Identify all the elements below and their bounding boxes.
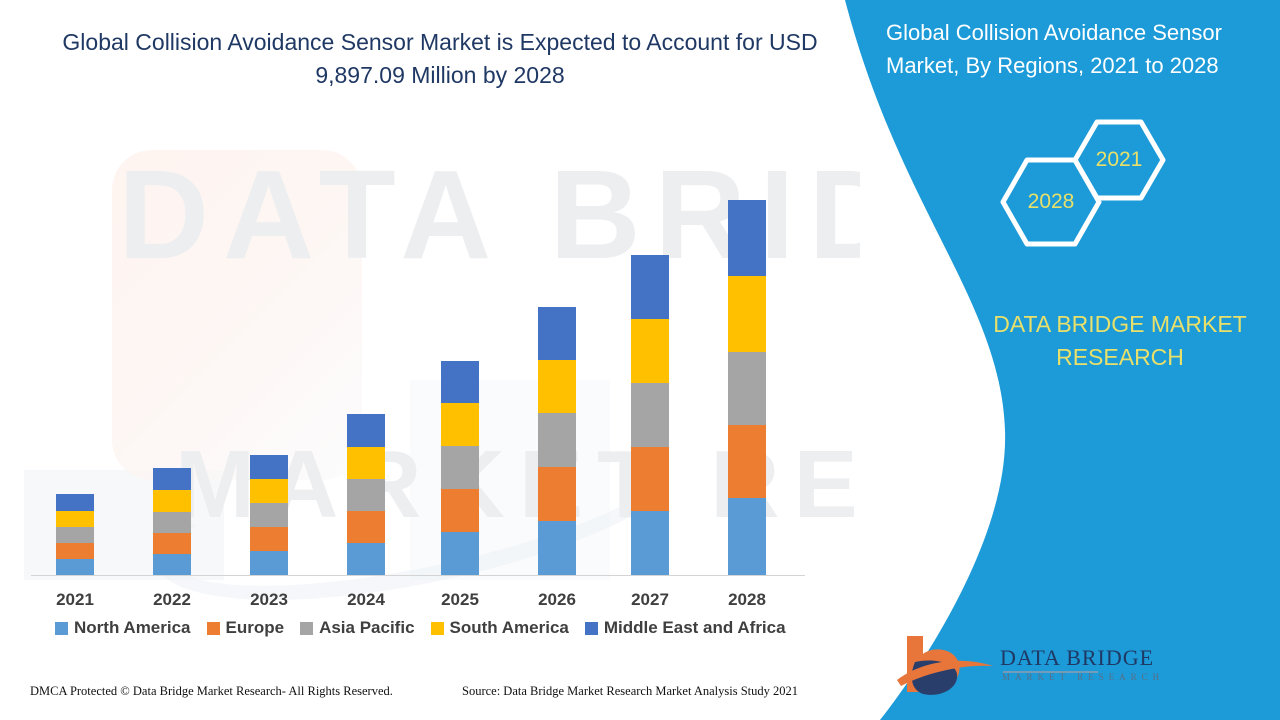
segment-middle-east-and-africa	[56, 494, 94, 511]
segment-europe	[631, 447, 669, 511]
x-label-2021: 2021	[35, 590, 115, 610]
segment-south-america	[347, 447, 385, 479]
x-label-2026: 2026	[517, 590, 597, 610]
x-label-2025: 2025	[420, 590, 500, 610]
segment-north-america	[441, 532, 479, 575]
logo-tagline: MARKET RESEARCH	[1002, 672, 1164, 682]
segment-middle-east-and-africa	[441, 361, 479, 403]
legend-swatch-south-america	[431, 622, 444, 635]
legend-item-north-america[interactable]: North America	[55, 618, 191, 638]
legend-label-south-america: South America	[450, 618, 569, 638]
legend-swatch-north-america	[55, 622, 68, 635]
segment-south-america	[153, 490, 191, 512]
infographic-canvas: DATA BRIDGE MARKET RESEARCH Global Colli…	[0, 0, 1280, 720]
segment-middle-east-and-africa	[347, 414, 385, 447]
hexagon-badges: 2028 2021	[975, 112, 1185, 292]
segment-north-america	[153, 554, 191, 575]
stacked-bar-chart: 2021 2022 2023 2024 2025 2026 2027 2028 …	[0, 0, 860, 720]
segment-asia-pacific	[153, 512, 191, 533]
segment-middle-east-and-africa	[538, 307, 576, 360]
segment-south-america	[538, 360, 576, 413]
segment-asia-pacific	[728, 352, 766, 425]
segment-europe	[728, 425, 766, 498]
hexagon-label-2028: 2028	[1021, 190, 1081, 214]
x-label-2023: 2023	[229, 590, 309, 610]
segment-europe	[538, 467, 576, 521]
bar-2024[interactable]	[347, 414, 385, 575]
segment-south-america	[728, 276, 766, 352]
legend-swatch-europe	[207, 622, 220, 635]
bar-2021[interactable]	[56, 494, 94, 575]
x-label-2024: 2024	[326, 590, 406, 610]
segment-north-america	[538, 521, 576, 575]
bar-2027[interactable]	[631, 255, 669, 575]
segment-asia-pacific	[250, 503, 288, 527]
segment-asia-pacific	[347, 479, 385, 511]
segment-europe	[250, 527, 288, 551]
segment-europe	[441, 489, 479, 532]
bar-2026[interactable]	[538, 307, 576, 575]
legend-item-asia-pacific[interactable]: Asia Pacific	[300, 618, 414, 638]
bar-2022[interactable]	[153, 468, 191, 575]
legend-swatch-asia-pacific	[300, 622, 313, 635]
hexagon-label-2021: 2021	[1089, 148, 1149, 172]
x-label-2022: 2022	[132, 590, 212, 610]
segment-europe	[153, 533, 191, 554]
segment-asia-pacific	[441, 446, 479, 489]
bar-2025[interactable]	[441, 361, 479, 575]
segment-south-america	[250, 479, 288, 503]
logo-wordmark: DATA BRIDGE	[1000, 645, 1154, 671]
segment-north-america	[347, 543, 385, 575]
legend-label-north-america: North America	[74, 618, 191, 638]
segment-europe	[56, 543, 94, 559]
segment-middle-east-and-africa	[728, 200, 766, 276]
segment-south-america	[56, 511, 94, 527]
x-label-2028: 2028	[707, 590, 787, 610]
segment-south-america	[631, 319, 669, 383]
segment-middle-east-and-africa	[631, 255, 669, 319]
segment-middle-east-and-africa	[250, 455, 288, 479]
bar-2023[interactable]	[250, 455, 288, 575]
segment-asia-pacific	[631, 383, 669, 447]
segment-north-america	[56, 559, 94, 575]
segment-asia-pacific	[56, 527, 94, 543]
bar-2028[interactable]	[728, 200, 766, 575]
legend-item-south-america[interactable]: South America	[431, 618, 569, 638]
segment-north-america	[250, 551, 288, 575]
x-label-2027: 2027	[610, 590, 690, 610]
x-axis-line	[31, 575, 805, 576]
legend-item-middle-east-and-africa[interactable]: Middle East and Africa	[585, 618, 786, 638]
segment-europe	[347, 511, 385, 543]
legend-label-middle-east-and-africa: Middle East and Africa	[604, 618, 786, 638]
segment-middle-east-and-africa	[153, 468, 191, 490]
segment-asia-pacific	[538, 413, 576, 467]
segment-south-america	[441, 403, 479, 446]
panel-title: Global Collision Avoidance Sensor Market…	[886, 16, 1266, 82]
legend-swatch-middle-east-and-africa	[585, 622, 598, 635]
legend-label-asia-pacific: Asia Pacific	[319, 618, 414, 638]
segment-north-america	[728, 498, 766, 575]
footer-copyright: DMCA Protected © Data Bridge Market Rese…	[30, 684, 393, 699]
legend-item-europe[interactable]: Europe	[207, 618, 285, 638]
legend-label-europe: Europe	[226, 618, 285, 638]
segment-north-america	[631, 511, 669, 575]
brand-name: DATA BRIDGE MARKET RESEARCH	[955, 308, 1280, 374]
chart-legend: North America Europe Asia Pacific South …	[55, 618, 786, 638]
footer-source: Source: Data Bridge Market Research Mark…	[462, 684, 798, 699]
